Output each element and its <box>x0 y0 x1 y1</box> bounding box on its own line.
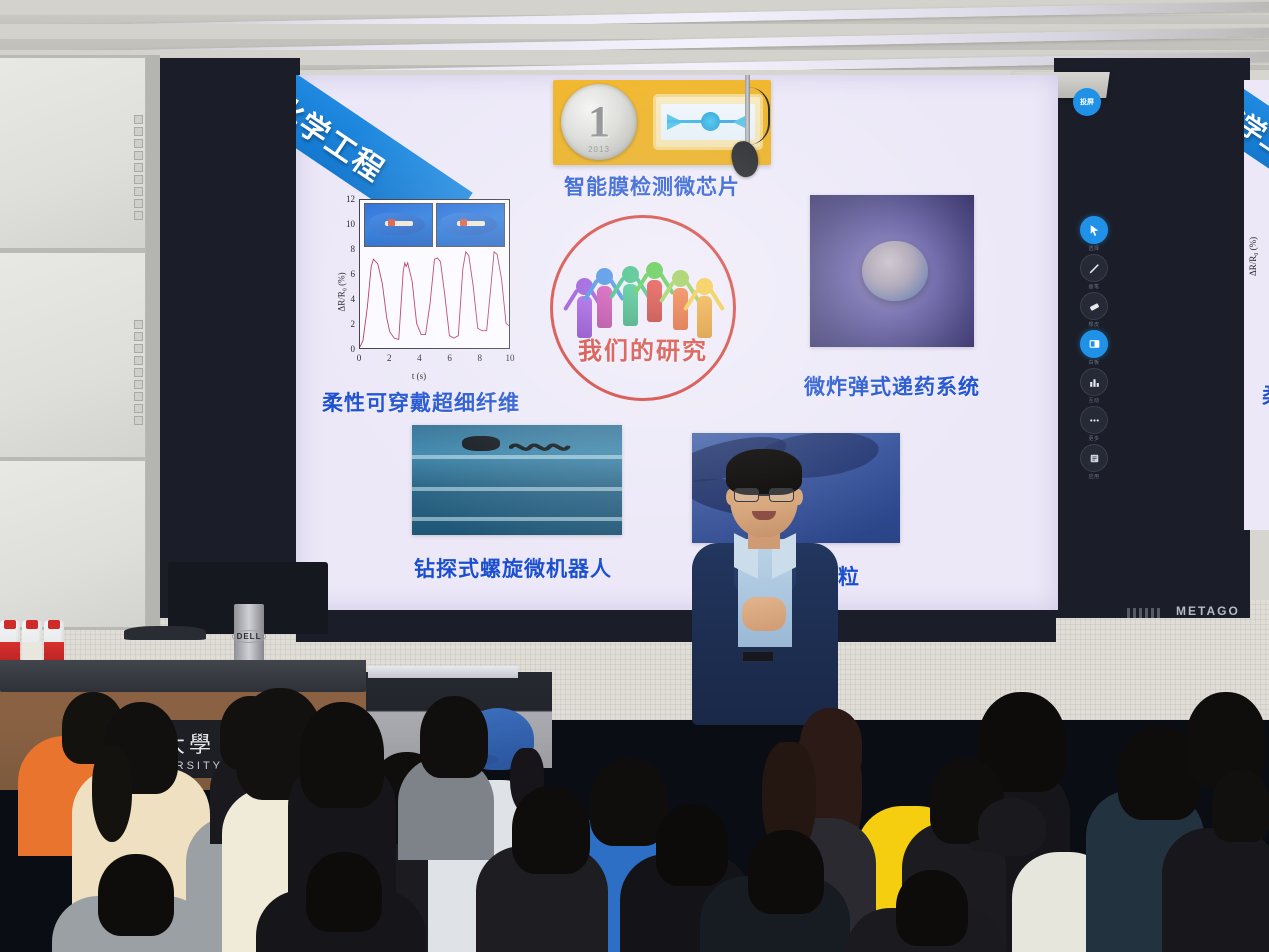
chart-y-ticks: 121086420 <box>324 199 355 349</box>
chart-plot-area <box>359 199 510 349</box>
annotation-toolbar[interactable]: 选择画笔橡皮白板互动更多应用 <box>1076 216 1112 481</box>
audience-member <box>748 830 824 914</box>
cursor-icon[interactable] <box>1080 216 1108 244</box>
audience-member <box>512 786 590 874</box>
chair-back <box>124 626 206 640</box>
toolbar-item-stamp[interactable]: 应用 <box>1080 444 1108 481</box>
slide-chart-fiber: ΔR/R₀ (%) 121086420 0246810 t (s) <box>324 193 514 383</box>
whiteboard-button-strip[interactable] <box>134 320 143 425</box>
audience-member <box>420 696 488 778</box>
toolbar-item-board[interactable]: 白板 <box>1080 330 1108 367</box>
secondary-projection-screen: 化学工程 ΔR/R₀ (%) 柔 <box>1244 80 1269 530</box>
slide-center-emblem: 我们的研究 <box>550 215 736 401</box>
audience-member <box>896 870 968 946</box>
chart-icon[interactable] <box>1080 368 1108 396</box>
secondary-chart-y-label: ΔR/R₀ (%) <box>1248 237 1258 276</box>
slide-center-label: 我们的研究 <box>553 331 733 366</box>
screencast-badge[interactable]: 投屏 <box>1073 88 1101 116</box>
toolbar-item-label: 应用 <box>1088 473 1099 480</box>
whiteboard-bottom-left <box>0 458 148 630</box>
chart-x-axis-label: t (s) <box>324 371 514 381</box>
audience-member <box>656 804 728 886</box>
slide-label-robot: 钻探式螺旋微机器人 <box>414 553 612 583</box>
board-icon[interactable] <box>1080 330 1108 358</box>
toolbar-item-more[interactable]: 更多 <box>1080 406 1108 443</box>
slide-label-chip: 智能膜检测微芯片 <box>564 171 740 201</box>
display-bezel-bottom <box>296 608 1056 642</box>
chart-x-ticks: 0246810 <box>359 353 510 365</box>
secondary-slide-label: 柔 <box>1262 380 1269 410</box>
chart-x-tick: 10 <box>506 353 515 363</box>
pen-icon[interactable] <box>1080 254 1108 282</box>
toolbar-item-label: 更多 <box>1088 435 1099 442</box>
chart-y-tick: 0 <box>351 344 356 354</box>
chart-inset-photo-1 <box>364 203 433 247</box>
audience-member <box>1162 828 1269 952</box>
audience-member <box>300 702 384 808</box>
chart-y-tick: 10 <box>346 219 355 229</box>
audience-member-cap <box>978 798 1046 856</box>
coin-graphic: 1 2013 <box>561 84 637 160</box>
slide-photo-microrobot <box>412 425 622 535</box>
whiteboard-button-strip[interactable] <box>134 115 143 220</box>
toolbar-item-label: 互动 <box>1088 397 1099 404</box>
chart-x-tick: 4 <box>417 353 422 363</box>
whiteboard-frame-rail <box>146 55 160 633</box>
chart-inset-photo-2 <box>436 203 505 247</box>
toolbar-item-eraser[interactable]: 橡皮 <box>1080 292 1108 329</box>
audience-member <box>98 854 174 936</box>
slide-label-bomb: 微炸弹式递药系统 <box>804 371 980 401</box>
glasses-icon <box>734 488 794 502</box>
audience-member <box>306 852 382 932</box>
toolbar-item-label: 选择 <box>1088 245 1099 252</box>
chart-y-tick: 6 <box>351 269 356 279</box>
audience-member <box>1212 770 1269 842</box>
chart-x-tick: 2 <box>387 353 392 363</box>
toolbar-item-pen[interactable]: 画笔 <box>1080 254 1108 291</box>
chart-y-tick: 12 <box>346 194 355 204</box>
whiteboard-lower-left <box>0 250 148 460</box>
chart-y-tick: 2 <box>351 319 356 329</box>
coin-year: 2013 <box>561 145 637 154</box>
toolbar-item-label: 橡皮 <box>1088 321 1099 328</box>
display-brand-label: METAGO <box>1176 604 1240 618</box>
toolbar-item-label: 白板 <box>1088 359 1099 366</box>
presenter-hands <box>742 597 786 631</box>
dark-wall-panel-left <box>160 58 300 618</box>
spiral-robot-graphic <box>509 440 572 454</box>
stamp-icon[interactable] <box>1080 444 1108 472</box>
chart-x-tick: 6 <box>447 353 452 363</box>
display-indicator-lights <box>1127 608 1161 618</box>
eraser-icon[interactable] <box>1080 292 1108 320</box>
secondary-banner-label: 化学工程 <box>1244 90 1269 179</box>
whiteboard-upper-left <box>0 55 148 251</box>
chart-x-tick: 8 <box>478 353 483 363</box>
toolbar-item-chart[interactable]: 互动 <box>1080 368 1108 405</box>
toolbar-item-label: 画笔 <box>1088 283 1099 290</box>
more-icon[interactable] <box>1080 406 1108 434</box>
chart-y-tick: 4 <box>351 294 356 304</box>
coin-value: 1 <box>588 100 610 144</box>
toolbar-item-cursor[interactable]: 选择 <box>1080 216 1108 253</box>
audience-member <box>92 746 132 842</box>
chart-y-tick: 8 <box>351 244 356 254</box>
secondary-slide-banner: 化学工程 <box>1244 80 1269 196</box>
chart-x-tick: 0 <box>357 353 362 363</box>
lecture-hall-photo: METAGO 投屏 化学工程 1 2013 智能膜检测微芯片 <box>0 0 1269 952</box>
slide-label-fiber: 柔性可穿戴超细纤维 <box>322 387 520 417</box>
projection-screen: 化学工程 1 2013 智能膜检测微芯片 ΔR/R₀ (%) <box>296 75 1058 610</box>
audience <box>0 640 1269 952</box>
people-figures-graphic <box>571 262 721 342</box>
slide-photo-microbomb <box>810 195 974 347</box>
